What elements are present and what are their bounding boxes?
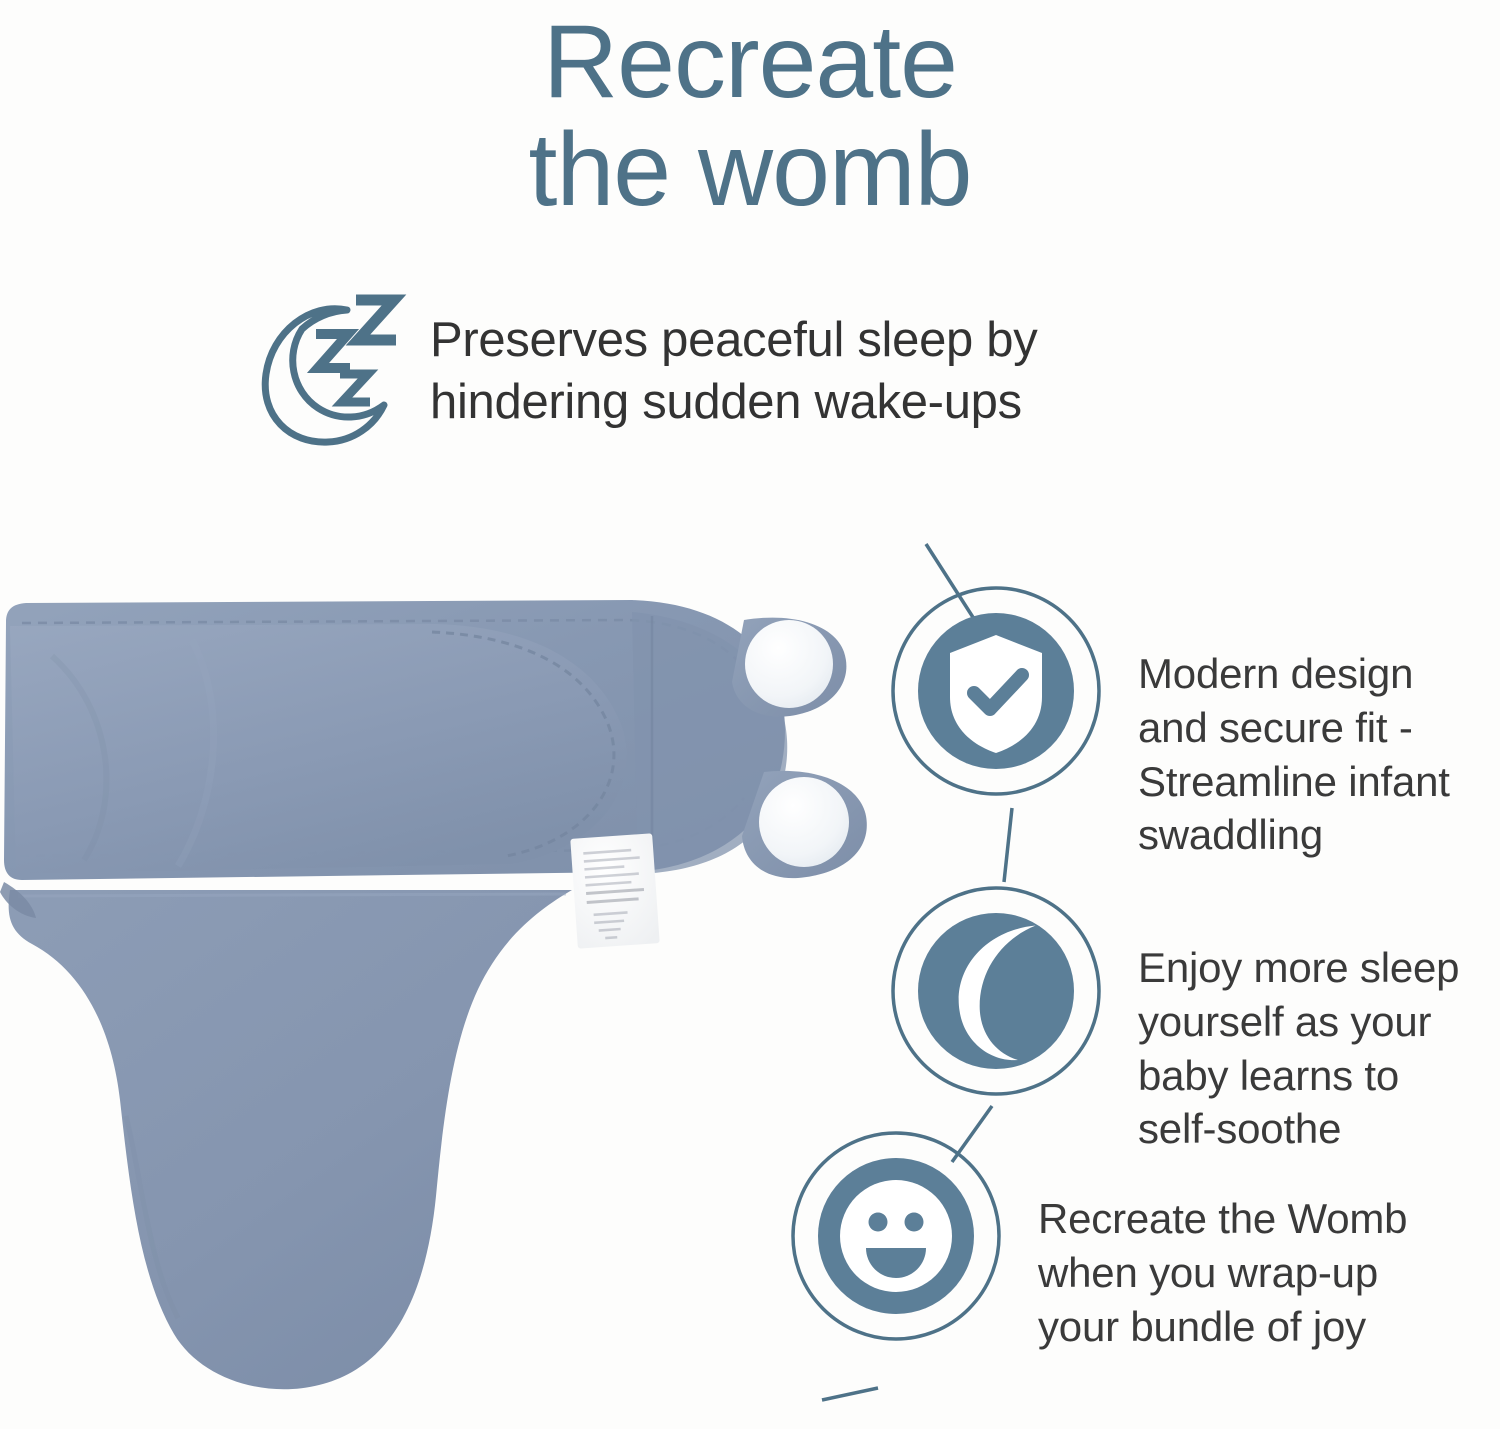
moon-zzz-icon [252,292,402,447]
subtitle-line-2: hindering sudden wake-ups [430,372,1037,434]
page-title-line-2: the womb [0,112,1500,228]
feature-item-1: Enjoy more sleep yourself as your baby l… [890,885,1459,1156]
smiley-face-icon [790,1130,1002,1342]
swaddle-pouch-body [0,882,572,1389]
swaddle-wrap-photo [0,560,892,1410]
feature-text-0: Modern design and secure fit - Streamlin… [1138,647,1450,862]
subtitle-line-1: Preserves peaceful sleep by [430,310,1037,372]
feature-1-line-2: baby learns to [1138,1049,1459,1103]
feature-0-line-2: Streamline infant [1138,755,1450,809]
shield-check-icon [890,585,1102,797]
feature-0-line-0: Modern design [1138,647,1450,701]
subtitle-row: Preserves peaceful sleep by hindering su… [252,292,1262,447]
feature-1-line-0: Enjoy more sleep [1138,941,1459,995]
crescent-moon-icon [890,885,1102,1097]
feature-item-2: Recreate the Womb when you wrap-up your … [790,1130,1407,1353]
swaddle-wrap-flap [10,624,627,874]
feature-2-line-0: Recreate the Womb [1038,1192,1407,1246]
feature-2-line-1: when you wrap-up [1038,1246,1407,1300]
feature-text-1: Enjoy more sleep yourself as your baby l… [1138,941,1459,1156]
subtitle-text: Preserves peaceful sleep by hindering su… [430,292,1037,433]
page-title: Recreate the womb [0,4,1500,229]
care-label-tag [570,833,659,948]
feature-list: Modern design and secure fit - Streamlin… [760,530,1500,1400]
feature-text-2: Recreate the Womb when you wrap-up your … [1038,1192,1407,1353]
feature-0-line-1: and secure fit - [1138,701,1450,755]
page-title-line-1: Recreate [0,4,1500,120]
feature-1-line-1: yourself as your [1138,995,1459,1049]
feature-0-line-3: swaddling [1138,808,1450,862]
connector-line-bottom [822,1388,878,1400]
feature-item-0: Modern design and secure fit - Streamlin… [890,585,1450,862]
feature-2-line-2: your bundle of joy [1038,1300,1407,1354]
